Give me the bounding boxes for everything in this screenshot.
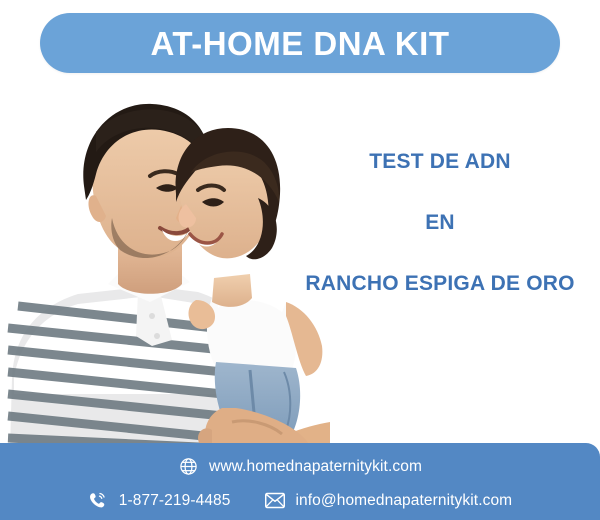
headline-line-1: TEST DE ADN — [280, 150, 600, 173]
headline-line-3: RANCHO ESPIGA DE ORO — [280, 272, 600, 295]
footer-contact-row: 1-877-219-4485 info@homednapaternitykit.… — [0, 486, 600, 515]
envelope-icon — [265, 491, 285, 511]
globe-icon — [178, 457, 198, 477]
footer-bar: www.homednapaternitykit.com 1-877-219-44… — [0, 443, 600, 520]
footer-website-row: www.homednapaternitykit.com — [0, 452, 600, 481]
banner-title: AT-HOME DNA KIT — [151, 27, 450, 60]
phone-icon — [88, 491, 108, 511]
footer-email-item[interactable]: info@homednapaternitykit.com — [265, 491, 513, 511]
poster-canvas: AT-HOME DNA KIT — [0, 0, 600, 520]
footer-phone-text: 1-877-219-4485 — [119, 493, 231, 509]
footer-website-text: www.homednapaternitykit.com — [209, 459, 422, 475]
footer-email-text: info@homednapaternitykit.com — [296, 493, 513, 509]
footer-website-item[interactable]: www.homednapaternitykit.com — [178, 457, 422, 477]
banner-pill: AT-HOME DNA KIT — [40, 13, 560, 73]
headline-spacer-1 — [280, 173, 600, 211]
footer-phone-item[interactable]: 1-877-219-4485 — [88, 491, 231, 511]
headline-block: TEST DE ADN EN RANCHO ESPIGA DE ORO — [280, 150, 600, 295]
headline-spacer-2 — [280, 234, 600, 272]
headline-line-2: EN — [280, 211, 600, 234]
